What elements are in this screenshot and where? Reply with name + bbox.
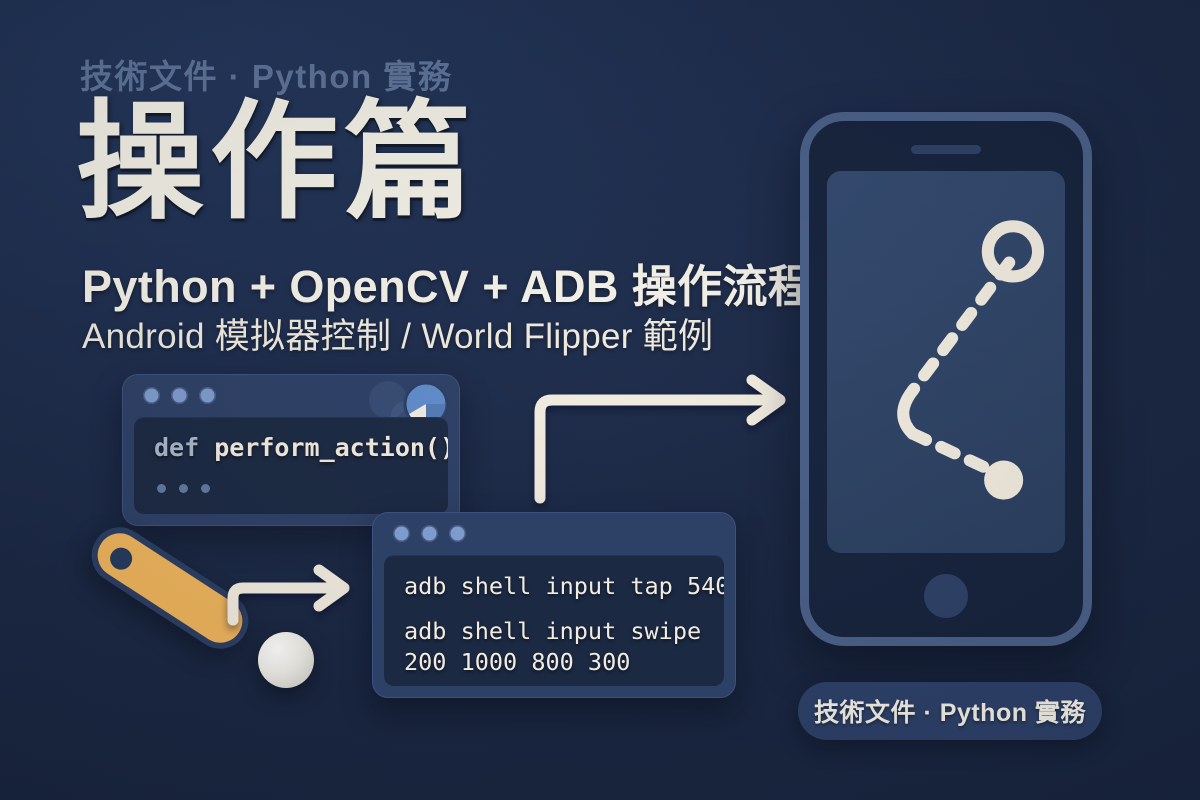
code-line-definition: def perform_action(): [154, 433, 428, 462]
code-function-signature: perform_action(): [214, 433, 448, 462]
code-window: def perform_action(): [122, 374, 460, 526]
window-dot-maximize-icon[interactable] [199, 387, 216, 404]
window-dot-minimize-icon[interactable] [421, 525, 438, 542]
arrow-right-icon [233, 570, 344, 620]
window-dot-close-icon[interactable] [393, 525, 410, 542]
terminal-window-screen: adb shell input tap 540 adb shell input … [384, 555, 724, 686]
smartphone-icon [800, 112, 1092, 646]
terminal-window-titlebar [373, 513, 735, 553]
stylus-hole [106, 543, 136, 573]
flow-arrow-icon [540, 380, 780, 498]
phone-display [827, 171, 1065, 553]
subtitle-secondary: Android 模拟器控制 / World Flipper 範例 [82, 308, 713, 359]
code-ellipsis [154, 484, 428, 493]
page-title: 操作篇 [76, 98, 478, 229]
phone-speaker [911, 145, 981, 154]
touch-dot-icon [984, 461, 1023, 500]
sphere-icon [258, 632, 314, 688]
poster-canvas: 技術文件 · Python 實務 操作篇 Python + OpenCV + A… [0, 0, 1200, 800]
ellipsis-dot-icon [201, 484, 210, 493]
window-dot-close-icon[interactable] [143, 387, 160, 404]
footer-badge: 技術文件 · Python 實務 [798, 682, 1102, 740]
terminal-window: adb shell input tap 540 adb shell input … [372, 512, 736, 698]
footer-badge-label: 技術文件 · Python 實務 [814, 693, 1086, 729]
terminal-line-tap: adb shell input tap 540 [404, 571, 704, 602]
swipe-path [827, 171, 1065, 553]
ellipsis-dot-icon [157, 484, 166, 493]
tap-ring-icon [988, 226, 1038, 276]
ellipsis-dot-icon [179, 484, 188, 493]
subtitle-primary: Python + OpenCV + ADB 操作流程 [82, 250, 813, 315]
home-button[interactable] [924, 574, 968, 618]
terminal-line-swipe: adb shell input swipe [404, 616, 704, 647]
code-window-screen: def perform_action(): [134, 417, 448, 514]
terminal-line-swipe-args: 200 1000 800 300 [404, 647, 704, 678]
window-dot-minimize-icon[interactable] [171, 387, 188, 404]
code-keyword: def [154, 433, 214, 462]
stylus-icon [81, 517, 259, 660]
window-dot-maximize-icon[interactable] [449, 525, 466, 542]
